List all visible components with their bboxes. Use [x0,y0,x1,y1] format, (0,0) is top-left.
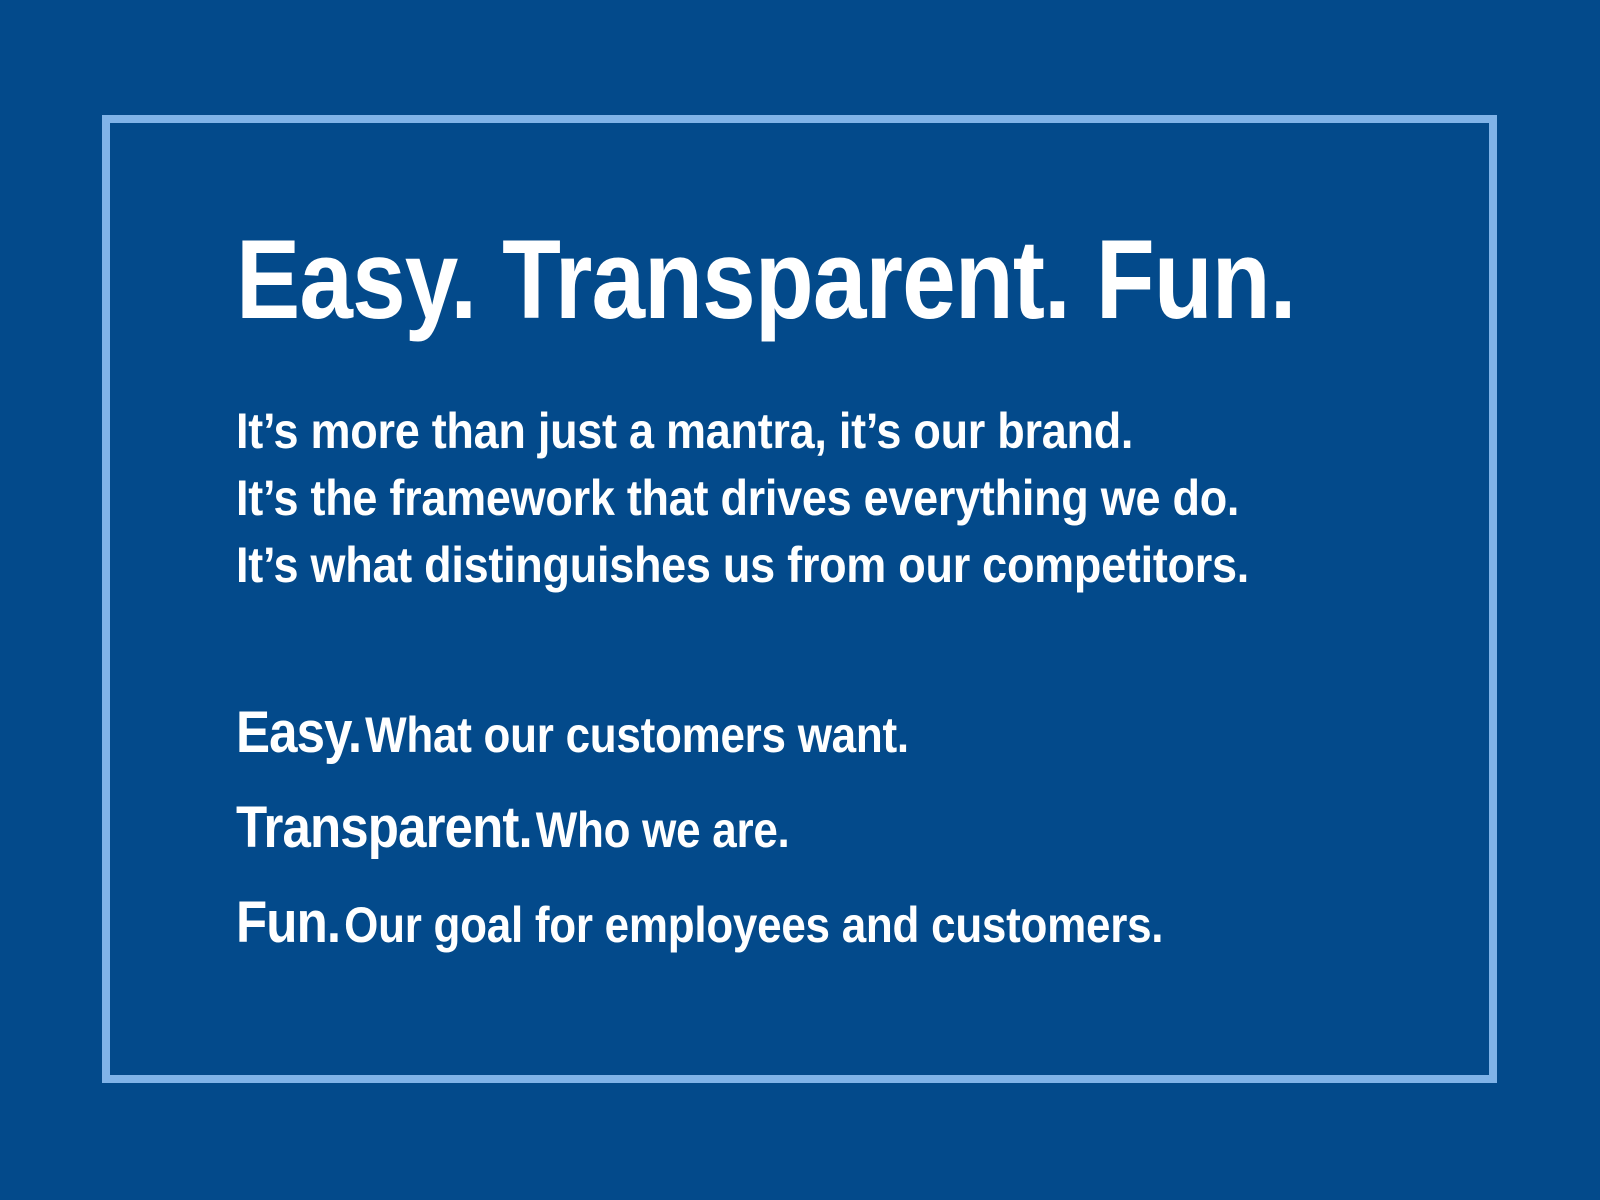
value-description: Our goal for employees and customers. [344,897,1163,953]
intro-line: It’s more than just a mantra, it’s our b… [236,398,1298,465]
value-lead-word: Transparent. [236,795,532,860]
intro-line: It’s what distinguishes us from our comp… [236,532,1298,599]
intro-paragraph: It’s more than just a mantra, it’s our b… [236,398,1416,599]
value-lead-word: Fun. [236,890,340,955]
value-description: Who we are. [536,802,790,858]
list-item: Easy. What our customers want. [236,693,1274,788]
list-item: Transparent. Who we are. [236,788,1274,883]
page-title: Easy. Transparent. Fun. [236,228,1251,332]
value-description: What our customers want. [365,707,909,763]
intro-line: It’s the framework that drives everythin… [236,465,1298,532]
list-item: Fun. Our goal for employees and customer… [236,883,1274,978]
value-lead-word: Easy. [236,700,361,765]
slide-canvas: Easy. Transparent. Fun. It’s more than j… [0,0,1600,1200]
slide-content: Easy. Transparent. Fun. It’s more than j… [236,228,1416,978]
value-list: Easy. What our customers want. Transpare… [236,693,1416,978]
